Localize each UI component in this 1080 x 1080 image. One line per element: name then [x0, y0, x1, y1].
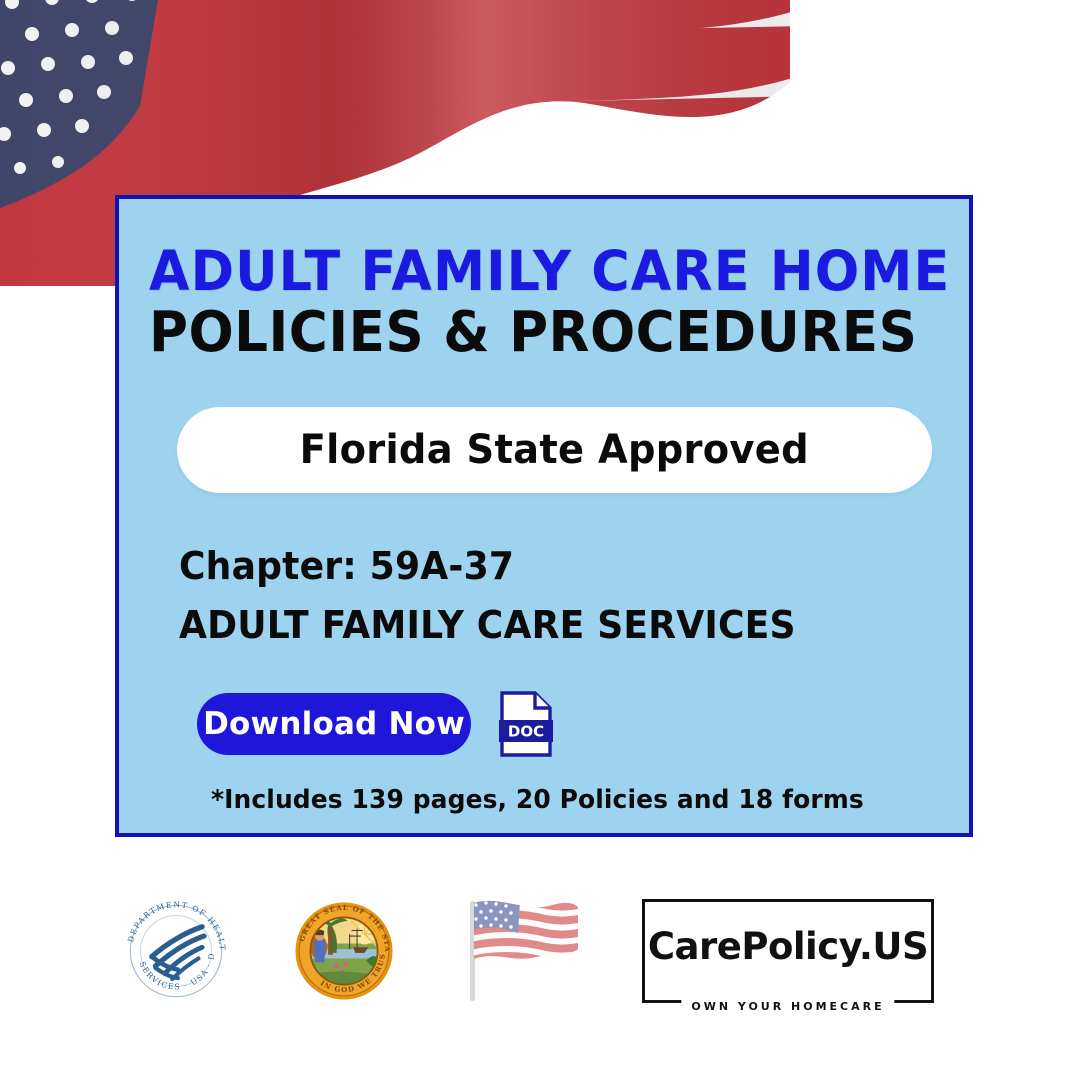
page-subtitle: POLICIES & PROCEDURES: [149, 304, 900, 362]
doc-file-icon[interactable]: DOC: [499, 691, 553, 757]
chapter-number: Chapter: 59A-37: [179, 545, 901, 589]
promo-card: ADULT FAMILY CARE HOME POLICIES & PROCED…: [115, 195, 973, 837]
carepolicy-tagline: OWN YOUR HOMECARE: [681, 1000, 894, 1013]
doc-icon-label: DOC: [508, 722, 544, 740]
promo-page: ADULT FAMILY CARE HOME POLICIES & PROCED…: [0, 0, 1080, 1080]
hhs-seal-logo: DEPARTMENT OF HEALTH & HUMAN SERVICES · …: [120, 895, 232, 1007]
chapter-block: Chapter: 59A-37 ADULT FAMILY CARE SERVIC…: [179, 545, 939, 648]
promo-card-content: ADULT FAMILY CARE HOME POLICIES & PROCED…: [119, 199, 969, 833]
download-now-button[interactable]: Download Now: [197, 693, 471, 755]
approved-badge: Florida State Approved: [177, 407, 932, 493]
chapter-title: ADULT FAMILY CARE SERVICES: [179, 603, 901, 649]
page-title: ADULT FAMILY CARE HOME: [149, 243, 900, 300]
carepolicy-wordmark: CarePolicy.US: [648, 925, 928, 968]
florida-state-seal-logo: GREAT SEAL OF THE STATE OF FLORIDA IN GO…: [288, 895, 400, 1007]
carepolicy-brand-logo: CarePolicy.US OWN YOUR HOMECARE: [642, 899, 934, 1003]
us-flag-small-logo: [456, 891, 586, 1011]
hhs-seal-icon: DEPARTMENT OF HEALTH & HUMAN SERVICES · …: [120, 895, 232, 1007]
florida-state-seal-icon: GREAT SEAL OF THE STATE OF FLORIDA IN GO…: [288, 895, 400, 1007]
cta-row: Download Now DOC: [197, 691, 939, 757]
us-flag-small-icon: [456, 891, 586, 1011]
approved-badge-label: Florida State Approved: [300, 427, 809, 473]
inclusions-note: *Includes 139 pages, 20 Policies and 18 …: [211, 785, 910, 815]
footer-logos: DEPARTMENT OF HEALTH & HUMAN SERVICES · …: [0, 876, 1080, 1026]
